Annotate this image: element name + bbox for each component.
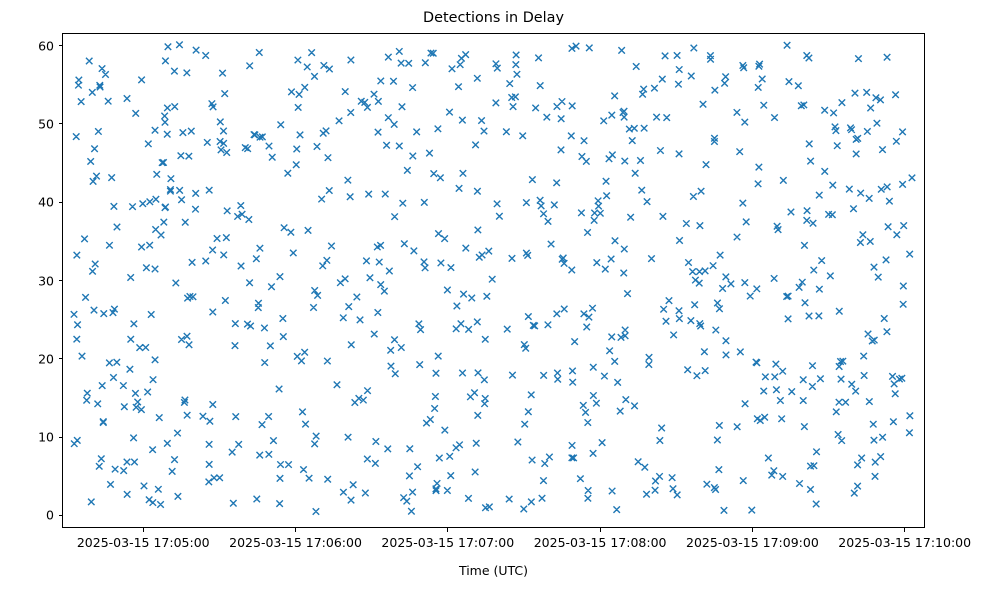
scatter-plot-area [63, 34, 924, 527]
x-tick-label: 2025-03-15 17:07:00 [381, 535, 514, 550]
y-tick-mark [59, 437, 63, 438]
y-tick-label: 60 [0, 38, 54, 53]
x-tick-mark [447, 528, 448, 532]
scatter-points-svg [63, 34, 924, 527]
y-tick-mark [59, 358, 63, 359]
plot-axes-frame [62, 33, 925, 528]
y-tick-mark [59, 123, 63, 124]
x-tick-label: 2025-03-15 17:10:00 [838, 535, 971, 550]
y-tick-label: 20 [0, 351, 54, 366]
y-tick-mark [59, 280, 63, 281]
y-tick-label: 0 [0, 508, 54, 523]
y-tick-label: 40 [0, 195, 54, 210]
scatter-marker-group [71, 41, 915, 514]
x-tick-mark [600, 528, 601, 532]
scatter-series-detections [71, 41, 915, 514]
page-title: Detections in Delay [0, 10, 987, 27]
x-tick-mark [752, 528, 753, 532]
y-tick-label: 50 [0, 116, 54, 131]
matplotlib-figure: Detections in Delay 2025-03-15 17:05:002… [0, 0, 987, 590]
x-axis-label: Time (UTC) [62, 563, 925, 578]
y-axis-tick-labels: 0102030405060 [0, 0, 54, 590]
y-tick-mark [59, 202, 63, 203]
x-tick-mark [295, 528, 296, 532]
y-tick-mark [59, 515, 63, 516]
y-tick-mark [59, 45, 63, 46]
y-tick-label: 30 [0, 273, 54, 288]
y-tick-label: 10 [0, 430, 54, 445]
x-tick-mark [904, 528, 905, 532]
x-tick-label: 2025-03-15 17:08:00 [534, 535, 667, 550]
x-tick-label: 2025-03-15 17:05:00 [77, 535, 210, 550]
x-tick-mark [143, 528, 144, 532]
x-tick-label: 2025-03-15 17:09:00 [686, 535, 819, 550]
x-tick-label: 2025-03-15 17:06:00 [229, 535, 362, 550]
